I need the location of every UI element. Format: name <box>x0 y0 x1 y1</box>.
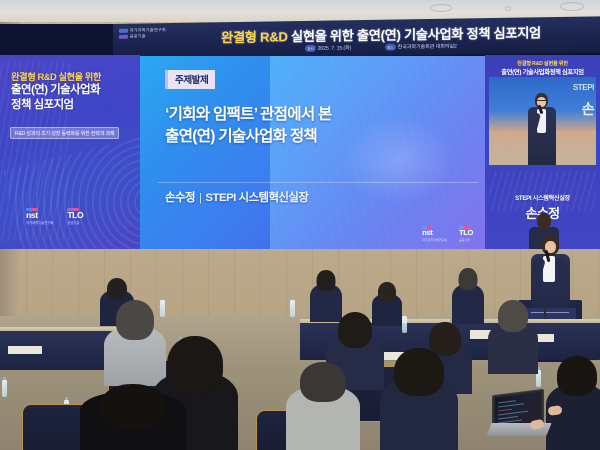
projection-screen-assembly: 국가과학기술연구회 공공기술 완결형 R&D 실현을 위한 출연(연) 기술사업… <box>0 24 600 249</box>
feed-overlay-org: STEPI <box>573 83 594 92</box>
banner-venue: 장소 한국과학기술회관 대회의실2 <box>385 41 457 53</box>
conference-hall-photo: 국가과학기술연구회 공공기술 완결형 R&D 실현을 위한 출연(연) 기술사업… <box>0 0 600 450</box>
person-head <box>498 300 528 332</box>
person-head <box>338 312 372 348</box>
person-body <box>452 284 484 324</box>
slide-tlo-logo: TLO 공공기술 <box>459 226 473 243</box>
venue-text: 한국과학기술회관 대회의실2 <box>398 43 457 51</box>
water-bottle <box>290 300 295 317</box>
speaker-name: 손수정 <box>165 192 195 204</box>
date-pill: 일시 <box>305 45 315 51</box>
audience-person <box>546 356 600 450</box>
venue-pill: 장소 <box>385 44 395 50</box>
feed-header-line2: 출연(연) 기술사업화정책 심포지엄 <box>485 67 600 76</box>
tlo-mark-icon <box>119 35 128 39</box>
audience-laptop <box>492 392 554 442</box>
event-banner: 국가과학기술연구회 공공기술 완결형 R&D 실현을 위한 출연(연) 기술사업… <box>113 16 600 60</box>
person-head <box>317 270 336 291</box>
right-live-feed-panel: 완결형 R&D 실현을 위한 출연(연) 기술사업화정책 심포지엄 STEPI … <box>485 55 600 249</box>
poster-tagline: R&D 성과의 조기 성장 동력화를 위한 전략과 과제 <box>10 127 119 139</box>
audience-person <box>488 300 538 374</box>
person-head <box>100 384 166 428</box>
caption-figure-head <box>537 213 551 229</box>
water-bottle <box>2 380 7 397</box>
ceiling-light-ring <box>505 6 511 11</box>
audience-person <box>452 268 484 324</box>
banner-date: 일시 2025. 7. 15.(화) <box>305 42 351 54</box>
poster-line1: 완결형 R&D 실현을 위한 <box>11 69 131 83</box>
person-head <box>378 282 396 302</box>
slide-nst-logo: nst 국가과학기술연구회 <box>422 226 447 243</box>
poster-tlo-logo: TLO 공공기술 <box>67 208 83 227</box>
slide-logo-group: nst 국가과학기술연구회 TLO 공공기술 <box>422 229 473 243</box>
feed-header-line1: 완결형 R&D 실현을 위한 <box>485 59 600 67</box>
banner-logo-group: 국가과학기술연구회 공공기술 <box>119 27 163 54</box>
feed-speaker-figure <box>525 93 559 165</box>
audience-person <box>80 384 186 450</box>
person-head <box>394 348 444 396</box>
water-bottle <box>402 316 407 333</box>
poster-logo-group: nst 국가과학기술연구회 TLO 공공기술 <box>26 211 122 227</box>
poster-line2: 출연(연) 기술사업화정책 심포지엄 <box>11 83 135 112</box>
document-sheet <box>8 346 42 354</box>
slide-section-label: 주제발제 <box>165 70 215 89</box>
date-text: 2025. 7. 15.(화) <box>318 44 352 52</box>
feed-caption-org: STEPI 시스템혁신실장 <box>485 193 600 202</box>
poster-nst-logo: nst 국가과학기술연구회 <box>26 208 53 227</box>
person-head <box>116 300 154 340</box>
speaker-org: STEPI 시스템혁신실장 <box>205 192 308 204</box>
person-head <box>107 278 127 300</box>
slide-divider <box>158 182 478 183</box>
nst-mark-icon <box>119 29 128 33</box>
speaker-person <box>524 236 576 308</box>
speaker-separator: | <box>199 192 201 204</box>
person-head <box>459 268 478 290</box>
audience-person <box>286 362 360 450</box>
feed-overlay-name: 손 <box>582 99 594 119</box>
slide-title: ‘기회와 임팩트’ 관점에서 본출연(연) 기술사업화 정책 <box>165 104 465 148</box>
audience-person <box>380 348 458 450</box>
ceiling-light-ring <box>560 2 584 11</box>
live-camera-feed: STEPI 손 <box>489 77 596 165</box>
banner-tlo-logo: 공공기술 <box>119 33 163 40</box>
ceiling-light-ring <box>430 4 452 12</box>
slide-speaker-line: 손수정|STEPI 시스템혁신실장 <box>165 189 465 205</box>
person-head <box>557 356 597 396</box>
left-poster-panel: 완결형 R&D 실현을 위한 출연(연) 기술사업화정책 심포지엄 R&D 성과… <box>0 55 140 249</box>
main-presentation-slide: 주제발제 ‘기회와 임팩트’ 관점에서 본출연(연) 기술사업화 정책 손수정|… <box>140 56 485 249</box>
person-head <box>300 362 346 402</box>
glasses-icon <box>537 100 546 103</box>
